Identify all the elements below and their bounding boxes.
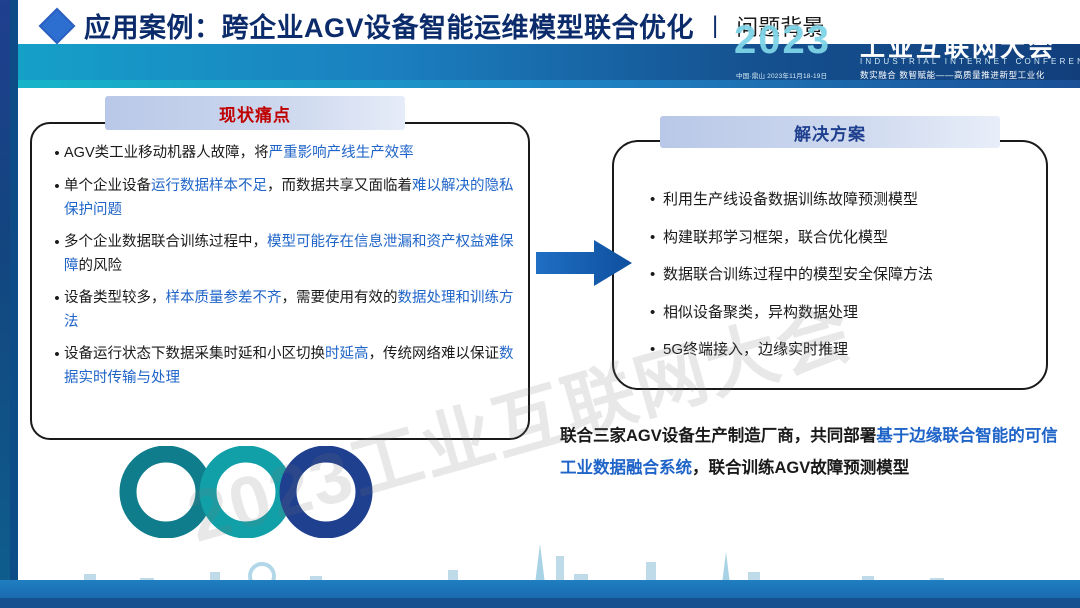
pain-point-item: •单个企业设备运行数据样本不足，而数据共享又面临着难以解决的隐私保护问题 <box>50 175 514 222</box>
solution-list: •利用生产线设备数据训练故障预测模型•构建联邦学习框架，联合优化模型•数据联合训… <box>650 190 1028 378</box>
pain-points-title: 现状痛点 <box>105 96 405 130</box>
pain-point-item: •设备运行状态下数据采集时延和小区切换时延高，传统网络难以保证数据实时传输与处理 <box>50 343 514 390</box>
bullet-dot-icon: • <box>50 343 64 367</box>
bullet-dot-icon: • <box>50 231 64 255</box>
bullet-dot-icon: • <box>650 303 663 323</box>
pain-point-text: 设备类型较多，样本质量参差不齐，需要使用有效的数据处理和训练方法 <box>64 287 514 334</box>
solution-item: •5G终端接入，边缘实时推理 <box>650 340 1028 360</box>
slide-root: 应用案例：跨企业AGV设备智能运维模型联合优化 | 问题背景 2023 工业互联… <box>0 0 1080 608</box>
pain-point-item: •AGV类工业移动机器人故障，将严重影响产线生产效率 <box>50 142 514 166</box>
page-title: 应用案例：跨企业AGV设备智能运维模型联合优化 | 问题背景 <box>44 6 824 45</box>
ring-label-1: 企业1 <box>140 484 178 505</box>
ring-label-2: 企业2 <box>220 484 258 505</box>
bullet-dot-icon: • <box>650 340 663 360</box>
text-run-2: 的风险 <box>79 258 123 274</box>
title-separator: | <box>712 12 718 40</box>
text-run-1: 时延高 <box>325 346 369 362</box>
summary-run-2: ，联合训练AGV故障预测模型 <box>692 459 909 477</box>
solution-item-text: 相似设备聚类，异构数据处理 <box>663 303 858 323</box>
text-run-0: 多个企业数据联合训练过程中， <box>64 234 267 250</box>
conference-logo-date: 中国·鼎山 2023年11月18-19日 <box>736 70 827 80</box>
pain-points-list: •AGV类工业移动机器人故障，将严重影响产线生产效率•单个企业设备运行数据样本不… <box>50 142 514 399</box>
solution-item: •利用生产线设备数据训练故障预测模型 <box>650 190 1028 210</box>
pain-points-box: •AGV类工业移动机器人故障，将严重影响产线生产效率•单个企业设备运行数据样本不… <box>30 122 530 440</box>
bullet-dot-icon: • <box>650 190 663 210</box>
text-run-1: 运行数据样本不足 <box>151 178 267 194</box>
text-run-0: AGV类工业移动机器人故障，将 <box>64 145 269 161</box>
flow-arrow-icon <box>536 240 632 286</box>
pain-point-text: 单个企业设备运行数据样本不足，而数据共享又面临着难以解决的隐私保护问题 <box>64 175 514 222</box>
bullet-dot-icon: • <box>50 287 64 311</box>
text-run-1: 样本质量参差不齐 <box>166 290 282 306</box>
pain-point-item: •设备类型较多，样本质量参差不齐，需要使用有效的数据处理和训练方法 <box>50 287 514 334</box>
conference-logo: 2023 工业互联网大会 INDUSTRIAL INTERNET CONFERE… <box>734 26 1064 84</box>
conference-logo-year: 2023 <box>734 18 831 63</box>
pain-point-text: 多个企业数据联合训练过程中，模型可能存在信息泄漏和资产权益难保障的风险 <box>64 231 514 278</box>
solution-item: •相似设备聚类，异构数据处理 <box>650 303 1028 323</box>
text-run-2: ，传统网络难以保证 <box>369 346 500 362</box>
solution-item: •数据联合训练过程中的模型安全保障方法 <box>650 265 1028 285</box>
enterprise-rings-diagram: 企业1 企业2 企业3 <box>118 446 408 538</box>
solution-item-text: 5G终端接入，边缘实时推理 <box>663 340 848 360</box>
text-run-1: 严重影响产线生产效率 <box>269 145 414 161</box>
ring-label-3: 企业3 <box>300 484 338 505</box>
pain-point-item: •多个企业数据联合训练过程中，模型可能存在信息泄漏和资产权益难保障的风险 <box>50 231 514 278</box>
solution-item-text: 利用生产线设备数据训练故障预测模型 <box>663 190 918 210</box>
solution-box: •利用生产线设备数据训练故障预测模型•构建联邦学习框架，联合优化模型•数据联合训… <box>612 140 1048 390</box>
text-run-0: 设备运行状态下数据采集时延和小区切换 <box>64 346 325 362</box>
conference-logo-name-en: INDUSTRIAL INTERNET CONFERENCE <box>860 57 1080 66</box>
solution-item: •构建联邦学习框架，联合优化模型 <box>650 228 1028 248</box>
summary-paragraph: 联合三家AGV设备生产制造厂商，共同部署基于边缘联合智能的可信工业数据融合系统，… <box>560 420 1060 484</box>
conference-logo-tagline: 数实融合 数智赋能——高质量推进新型工业化 <box>860 69 1045 81</box>
solution-item-text: 数据联合训练过程中的模型安全保障方法 <box>663 265 933 285</box>
text-run-2: ，而数据共享又面临着 <box>267 178 412 194</box>
text-run-2: ，需要使用有效的 <box>282 290 398 306</box>
solution-title: 解决方案 <box>660 116 1000 148</box>
solution-item-text: 构建联邦学习框架，联合优化模型 <box>663 228 888 248</box>
title-main-text: 应用案例：跨企业AGV设备智能运维模型联合优化 <box>84 6 694 45</box>
pain-point-text: 设备运行状态下数据采集时延和小区切换时延高，传统网络难以保证数据实时传输与处理 <box>64 343 514 390</box>
summary-run-0: 联合三家AGV设备生产制造厂商，共同部署 <box>560 427 876 445</box>
text-run-0: 设备类型较多， <box>64 290 166 306</box>
bullet-dot-icon: • <box>650 228 663 248</box>
bullet-dot-icon: • <box>50 142 64 166</box>
diamond-bullet-icon <box>39 7 76 44</box>
sea-band-dark <box>0 598 1080 608</box>
bullet-dot-icon: • <box>50 175 64 199</box>
pain-point-text: AGV类工业移动机器人故障，将严重影响产线生产效率 <box>64 142 514 165</box>
bullet-dot-icon: • <box>650 265 663 285</box>
text-run-0: 单个企业设备 <box>64 178 151 194</box>
